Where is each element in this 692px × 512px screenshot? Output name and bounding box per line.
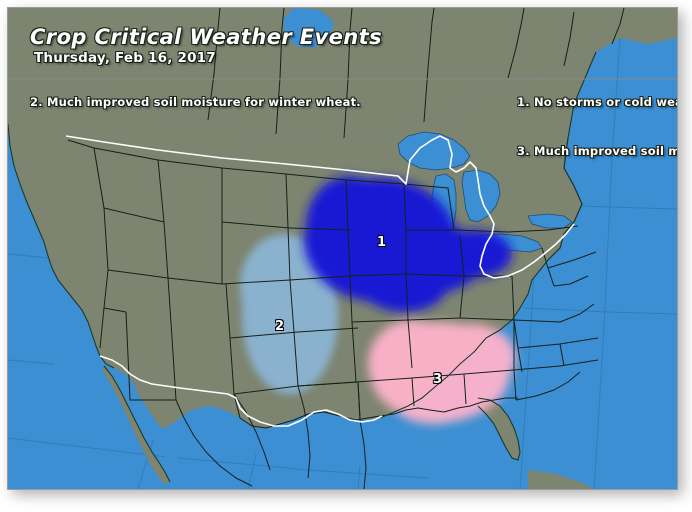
region-label-1: 1 [377, 236, 386, 249]
annotation-note-3: 3. Much improved soil moisture for winte… [517, 143, 677, 159]
region-label-3: 3 [433, 373, 442, 386]
map-canvas[interactable]: Crop Critical Weather Events Thursday, F… [8, 8, 677, 489]
page-subtitle-date: Thursday, Feb 16, 2017 [34, 50, 216, 66]
north-america-map-graphic [8, 8, 677, 489]
region-label-2: 2 [275, 320, 284, 333]
annotation-note-1: 1. No storms or cold weather this week. [517, 94, 677, 110]
weather-map-panel[interactable]: Crop Critical Weather Events Thursday, F… [7, 7, 678, 490]
page-title: Crop Critical Weather Events [30, 25, 382, 49]
annotation-note-2: 2. Much improved soil moisture for winte… [30, 94, 200, 110]
page-root: Crop Critical Weather Events Thursday, F… [0, 0, 692, 512]
